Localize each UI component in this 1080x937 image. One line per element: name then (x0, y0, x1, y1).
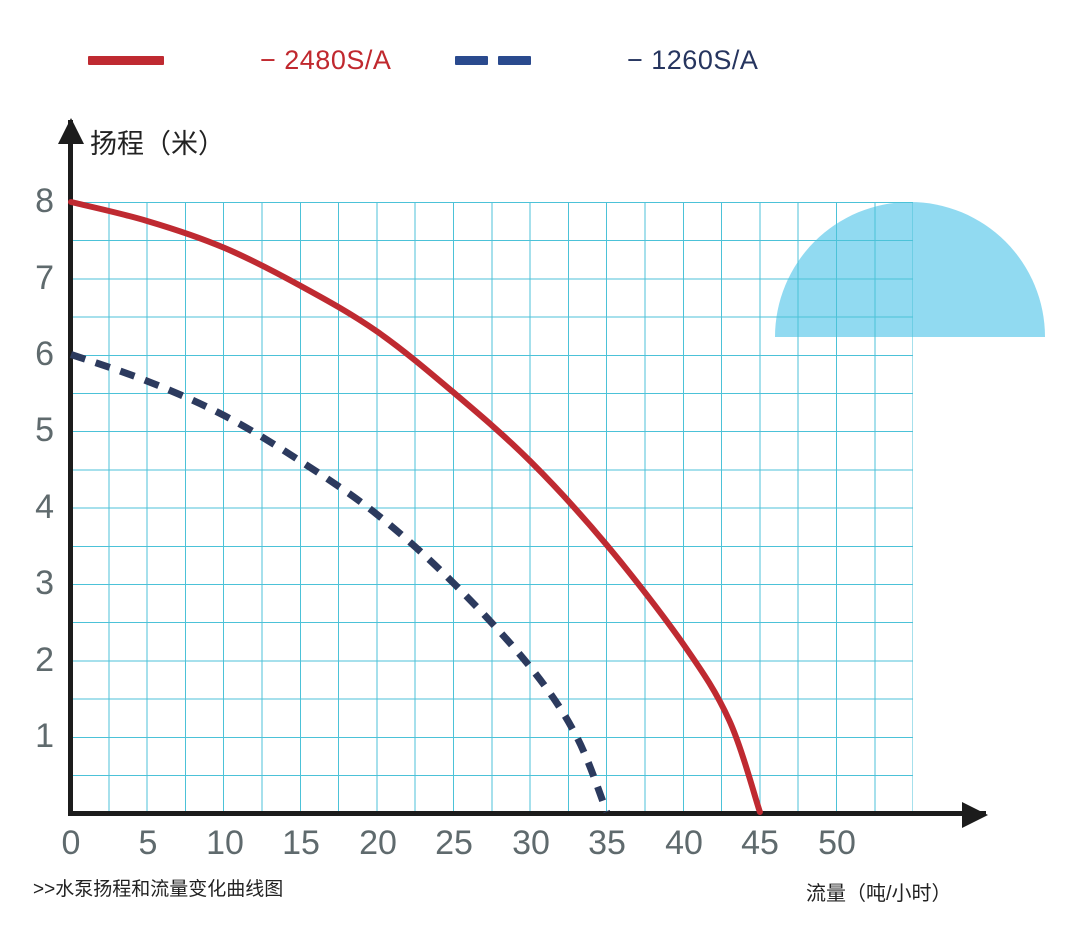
curve-2480sa (71, 202, 760, 812)
x-tick-5: 5 (113, 826, 183, 860)
y-axis-title: 扬程（米） (90, 122, 225, 161)
y-tick-2: 2 (14, 643, 54, 677)
x-tick-20: 20 (343, 826, 413, 860)
y-tick-5: 5 (14, 413, 54, 447)
y-tick-8: 8 (14, 184, 54, 218)
x-tick-45: 45 (725, 826, 795, 860)
x-tick-10: 10 (190, 826, 260, 860)
y-tick-6: 6 (14, 337, 54, 371)
chart-caption: >>水泵扬程和流量变化曲线图 (33, 874, 283, 901)
x-axis-title: 流量（吨/小时） (806, 877, 952, 906)
curve-1260sa (71, 355, 607, 813)
x-tick-15: 15 (266, 826, 336, 860)
y-tick-4: 4 (14, 490, 54, 524)
x-tick-25: 25 (419, 826, 489, 860)
x-tick-0: 0 (36, 826, 106, 860)
x-tick-35: 35 (572, 826, 642, 860)
x-tick-40: 40 (649, 826, 719, 860)
y-tick-1: 1 (14, 719, 54, 753)
y-tick-3: 3 (14, 566, 54, 600)
y-tick-7: 7 (14, 261, 54, 295)
pump-performance-chart: − 2480S/A − 1260S/A 8 7 6 5 4 3 2 1 0 5 … (0, 0, 1080, 937)
y-tick-labels: 8 7 6 5 4 3 2 1 (0, 0, 54, 937)
x-tick-50: 50 (802, 826, 872, 860)
x-tick-30: 30 (496, 826, 566, 860)
